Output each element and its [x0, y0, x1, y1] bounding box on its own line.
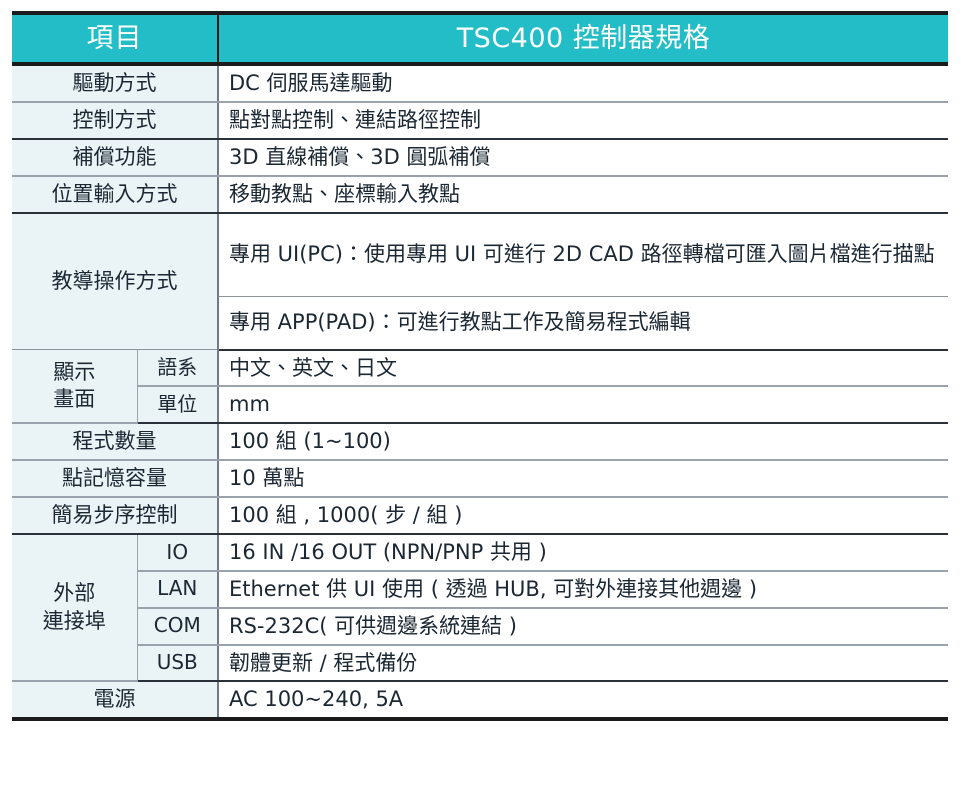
header-item-cell: 項目 — [12, 13, 218, 64]
table-row: 顯示 畫面 語系 中文、英文、日文 — [12, 350, 948, 387]
sub-value-usb: 韌體更新 / 程式備份 — [218, 645, 948, 682]
table-row: 簡易步序控制 100 組 , 1000( 步 / 組 ) — [12, 497, 948, 534]
table-row: LAN Ethernet 供 UI 使用 ( 透過 HUB, 可對外連接其他週邊… — [12, 571, 948, 608]
row-label-position-input: 位置輸入方式 — [12, 176, 218, 213]
row-value-position-input: 移動教點、座標輸入教點 — [218, 176, 948, 213]
table-row: 點記憶容量 10 萬點 — [12, 460, 948, 497]
row-label-external-ports-line1: 外部 — [16, 580, 133, 607]
row-label-external-ports: 外部 連接埠 — [12, 534, 137, 682]
row-value-drive-method: DC 伺服馬達驅動 — [218, 64, 948, 102]
row-label-point-memory: 點記憶容量 — [12, 460, 218, 497]
table-row: 電源 AC 100~240, 5A — [12, 681, 948, 719]
row-label-display-screen-line2: 畫面 — [16, 386, 133, 413]
sub-value-unit: mm — [218, 386, 948, 423]
sub-label-com: COM — [137, 608, 218, 645]
specification-table: 項目 TSC400 控制器規格 驅動方式 DC 伺服馬達驅動 控制方式 點對點控… — [12, 11, 948, 721]
sub-value-io: 16 IN /16 OUT (NPN/PNP 共用 ) — [218, 534, 948, 571]
table-row: 程式數量 100 組 (1~100) — [12, 423, 948, 460]
table-row: 位置輸入方式 移動教點、座標輸入教點 — [12, 176, 948, 213]
table-row: 驅動方式 DC 伺服馬達驅動 — [12, 64, 948, 102]
row-label-power-supply: 電源 — [12, 681, 218, 719]
sub-value-lan: Ethernet 供 UI 使用 ( 透過 HUB, 可對外連接其他週邊 ) — [218, 571, 948, 608]
row-label-drive-method: 驅動方式 — [12, 64, 218, 102]
row-label-program-count: 程式數量 — [12, 423, 218, 460]
sub-value-com: RS-232C( 可供週邊系統連結 ) — [218, 608, 948, 645]
header-spec-cell: TSC400 控制器規格 — [218, 13, 948, 64]
table-row: 教導操作方式 專用 UI(PC)：使用專用 UI 可進行 2D CAD 路徑轉檔… — [12, 213, 948, 297]
spec-sheet: 項目 TSC400 控制器規格 驅動方式 DC 伺服馬達驅動 控制方式 點對點控… — [0, 0, 961, 787]
table-row: 外部 連接埠 IO 16 IN /16 OUT (NPN/PNP 共用 ) — [12, 534, 948, 571]
row-value-program-count: 100 組 (1~100) — [218, 423, 948, 460]
row-value-sequence-control: 100 組 , 1000( 步 / 組 ) — [218, 497, 948, 534]
table-row: COM RS-232C( 可供週邊系統連結 ) — [12, 608, 948, 645]
sub-label-language: 語系 — [137, 350, 218, 387]
row-label-teaching-operation: 教導操作方式 — [12, 213, 218, 350]
row-label-display-screen-line1: 顯示 — [16, 359, 133, 386]
row-label-compensation: 補償功能 — [12, 139, 218, 176]
row-value-teaching-operation-app: 專用 APP(PAD)：可進行教點工作及簡易程式編輯 — [218, 296, 948, 350]
sub-value-language: 中文、英文、日文 — [218, 350, 948, 387]
table-row: 補償功能 3D 直線補償、3D 圓弧補償 — [12, 139, 948, 176]
table-row: USB 韌體更新 / 程式備份 — [12, 645, 948, 682]
row-label-control-method: 控制方式 — [12, 102, 218, 139]
sub-label-lan: LAN — [137, 571, 218, 608]
row-value-point-memory: 10 萬點 — [218, 460, 948, 497]
sub-label-unit: 單位 — [137, 386, 218, 423]
row-value-teaching-operation-ui: 專用 UI(PC)：使用專用 UI 可進行 2D CAD 路徑轉檔可匯入圖片檔進… — [218, 213, 948, 297]
sub-label-io: IO — [137, 534, 218, 571]
row-label-display-screen: 顯示 畫面 — [12, 350, 137, 424]
table-row: 控制方式 點對點控制、連結路徑控制 — [12, 102, 948, 139]
row-label-sequence-control: 簡易步序控制 — [12, 497, 218, 534]
row-value-control-method: 點對點控制、連結路徑控制 — [218, 102, 948, 139]
sub-label-usb: USB — [137, 645, 218, 682]
table-header-row: 項目 TSC400 控制器規格 — [12, 13, 948, 64]
row-label-external-ports-line2: 連接埠 — [16, 608, 133, 635]
table-row: 單位 mm — [12, 386, 948, 423]
row-value-power-supply: AC 100~240, 5A — [218, 681, 948, 719]
row-value-compensation: 3D 直線補償、3D 圓弧補償 — [218, 139, 948, 176]
